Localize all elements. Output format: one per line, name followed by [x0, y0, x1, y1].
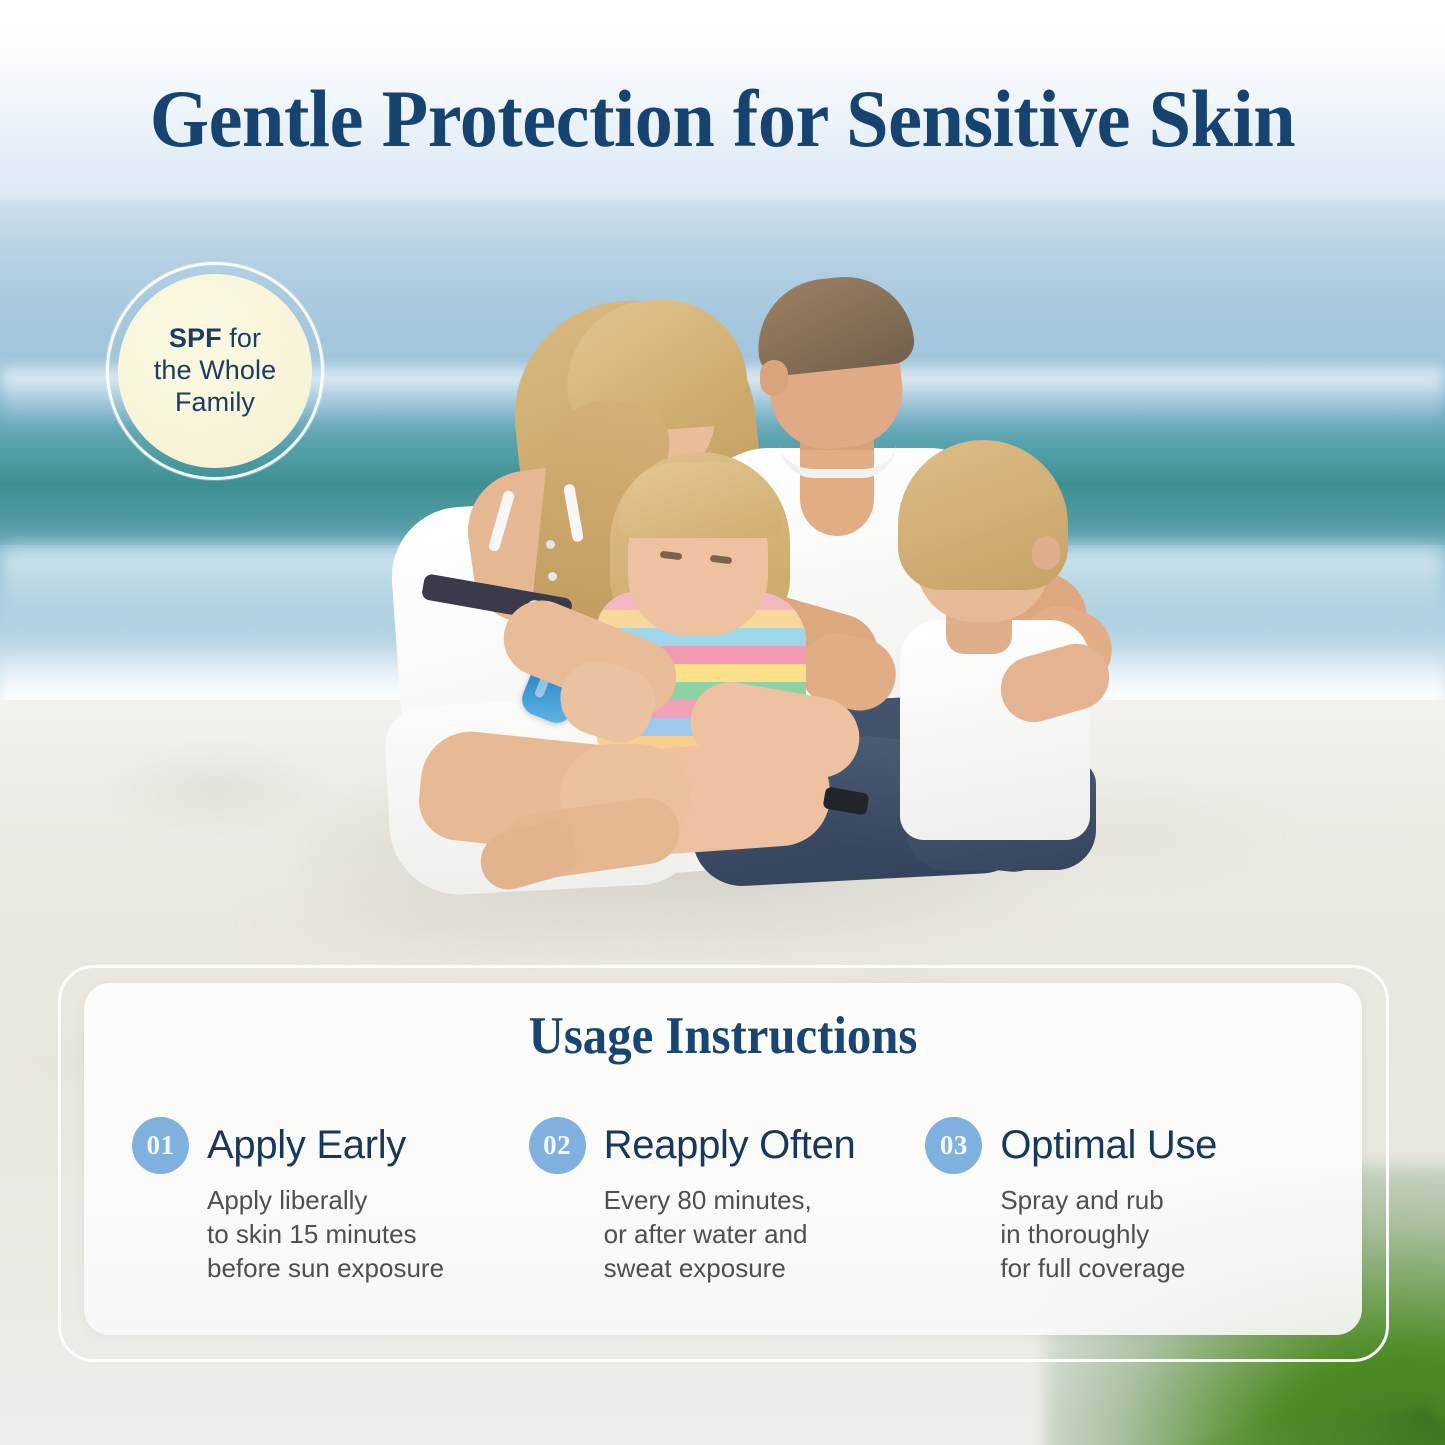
page-title: Gentle Protection for Sensitive Skin: [51, 72, 1395, 166]
step-title: Reapply Often: [604, 1123, 856, 1168]
step-number-badge: 03: [925, 1117, 982, 1174]
badge-line2: the Whole: [154, 355, 276, 385]
father-ear: [760, 360, 788, 396]
badge-disc: SPF for the Whole Family: [118, 274, 312, 468]
step-item-03: 03 Optimal Use Spray and rub in thorough…: [925, 1116, 1322, 1285]
step-title: Optimal Use: [1000, 1123, 1217, 1168]
usage-instructions-card: Usage Instructions 01 Apply Early Apply …: [84, 983, 1362, 1335]
step-description: Spray and rub in thoroughly for full cov…: [1000, 1183, 1322, 1285]
step-item-01: 01 Apply Early Apply liberally to skin 1…: [132, 1116, 529, 1285]
steps-list: 01 Apply Early Apply liberally to skin 1…: [132, 1116, 1322, 1285]
step-description: Every 80 minutes, or after water and swe…: [604, 1183, 926, 1285]
badge-text: SPF for the Whole Family: [154, 323, 276, 419]
step-header: 02 Reapply Often: [529, 1116, 926, 1174]
dress-button: [548, 572, 557, 581]
step-number-badge: 01: [132, 1117, 189, 1174]
step-header: 03 Optimal Use: [925, 1116, 1322, 1174]
father-collar: [780, 444, 896, 478]
card-title: Usage Instructions: [135, 1006, 1311, 1066]
spf-family-badge: SPF for the Whole Family: [106, 262, 324, 480]
dress-button: [546, 540, 555, 549]
badge-line3: Family: [175, 387, 255, 417]
boy-ear: [1032, 536, 1060, 570]
badge-line1-rest: for: [222, 323, 261, 353]
step-number-badge: 02: [529, 1117, 586, 1174]
step-description: Apply liberally to skin 15 minutes befor…: [207, 1183, 529, 1285]
step-header: 01 Apply Early: [132, 1116, 529, 1174]
girl-hair-front: [618, 462, 782, 538]
step-item-02: 02 Reapply Often Every 80 minutes, or af…: [529, 1116, 926, 1285]
step-title: Apply Early: [207, 1123, 406, 1168]
badge-line1-bold: SPF: [169, 323, 222, 353]
